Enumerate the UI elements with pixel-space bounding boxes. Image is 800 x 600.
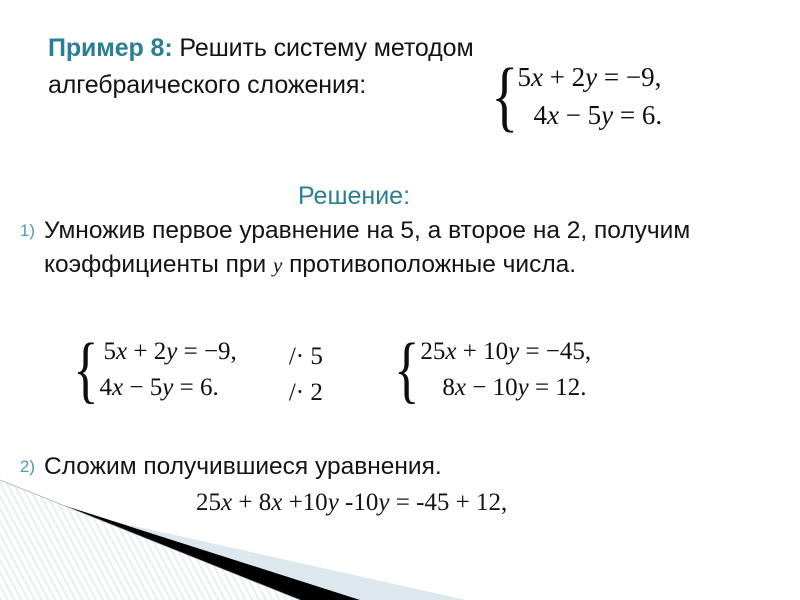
slide-canvas: Пример 8: Решить систему методом алгебра… (0, 0, 800, 600)
sum-equation-result: -45 + 12, (416, 489, 507, 516)
title-line-2: алгебраического сложения: (48, 67, 788, 104)
list-item-1-marker: 1) (14, 214, 44, 248)
solution-heading: Решение: (0, 182, 800, 211)
title-line-1-rest: Решить систему методом (173, 34, 474, 62)
list-item-1-variable: y (273, 253, 282, 277)
system-top-row-2: 4x − 5y = 6. (517, 96, 662, 134)
sum-equation: 25x + 8x +10y -10y = -45 + 12, (196, 486, 507, 520)
list-item-1-text-part2: противоположные числа. (282, 251, 576, 278)
system-top: { 5x + 2y = −9, 4x − 5y = 6. (486, 58, 662, 134)
system-middle-right-rows: 25x + 10y = −45, 8x − 10y = 12. (420, 334, 591, 406)
list-item-1: 1) Умножив первое уравнение на 5, а втор… (14, 214, 774, 282)
system-middle-left-row-1: 5x + 2y = −9, (100, 334, 237, 370)
list-item-2-text: Сложим получившиеся уравнения. (44, 450, 442, 484)
list-item-2: 2) Сложим получившиеся уравнения. (14, 450, 774, 484)
system-middle-left-row-2: 4x − 5y = 6. (100, 370, 237, 406)
page-title: Пример 8: Решить систему методом алгебра… (48, 30, 788, 104)
system-middle-right: { 25x + 10y = −45, 8x − 10y = 12. (389, 334, 591, 406)
system-middle-right-row-2: 8x − 10y = 12. (420, 370, 591, 406)
list-item-2-marker: 2) (14, 450, 44, 484)
system-top-row-1: 5x + 2y = −9, (517, 58, 662, 96)
system-middle-left-rows: 5x + 2y = −9, 4x − 5y = 6. (100, 334, 237, 406)
transformation-row: { 5x + 2y = −9, 4x − 5y = 6. /· 5 /· 2 {… (68, 334, 591, 411)
system-middle-right-row-1: 25x + 10y = −45, (420, 334, 591, 370)
multiplier-row-1: /· 5 (289, 339, 323, 375)
system-middle-left: { 5x + 2y = −9, 4x − 5y = 6. (68, 334, 237, 406)
title-line-1: Пример 8: Решить систему методом (48, 30, 788, 67)
system-top-rows: 5x + 2y = −9, 4x − 5y = 6. (517, 58, 662, 134)
system-middle-right-brace: { (394, 340, 420, 401)
system-top-brace: { (491, 64, 518, 128)
sum-equation-terms: 25x + 8x +10y -10y (196, 489, 389, 516)
title-example-label: Пример 8: (48, 34, 173, 62)
list-item-1-text: Умножив первое уравнение на 5, а второе … (44, 214, 774, 282)
system-middle-left-brace: { (73, 340, 99, 401)
sum-equation-equals: = (389, 489, 416, 516)
multiplier-row-2: /· 2 (289, 375, 323, 411)
multiplier-column: /· 5 /· 2 (289, 339, 323, 411)
